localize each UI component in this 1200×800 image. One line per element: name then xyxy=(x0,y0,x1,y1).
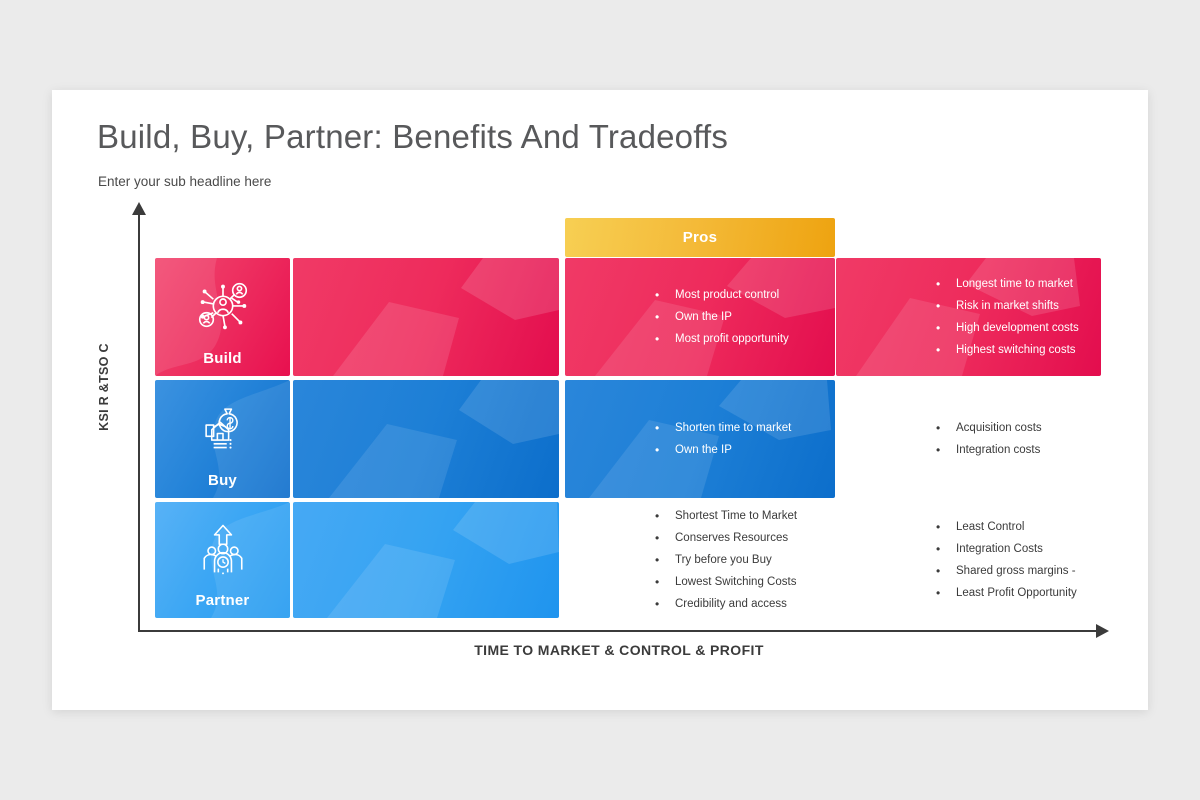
list-item: Own the IP xyxy=(651,439,835,461)
cons-list-buy: Acquisition costs Integration costs xyxy=(836,380,1136,498)
list-item: Integration costs xyxy=(932,439,1136,461)
cons-list-partner: Least Control Integration Costs Shared g… xyxy=(836,502,1136,618)
x-axis-line xyxy=(138,630,1100,632)
page-title: Build, Buy, Partner: Benefits And Tradeo… xyxy=(97,118,728,156)
list-item: Conserves Resources xyxy=(651,527,835,549)
slide-card: Build, Buy, Partner: Benefits And Tradeo… xyxy=(52,90,1148,710)
x-axis-label: TIME TO MARKET & CONTROL & PROFIT xyxy=(138,642,1100,658)
bar-buy-middle xyxy=(293,380,559,498)
list-item: Shortest Time to Market xyxy=(651,505,835,527)
list-item: Least Control xyxy=(932,516,1136,538)
list-item: Risk in market shifts xyxy=(932,295,1136,317)
bar-decoration xyxy=(293,258,559,376)
category-label-buy: Buy xyxy=(208,472,237,489)
pros-list-build: Most product control Own the IP Most pro… xyxy=(565,258,835,376)
column-header-pros[interactable]: Pros xyxy=(565,218,835,257)
row-partner: Partner Shortest Time to Market Conserve… xyxy=(52,502,1148,618)
list-item: High development costs xyxy=(932,317,1136,339)
list-item: Integration Costs xyxy=(932,538,1136,560)
row-build: Build xyxy=(52,258,1148,376)
y-axis-arrow-icon xyxy=(132,202,146,215)
pros-list-buy: Shorten time to market Own the IP xyxy=(565,380,835,498)
category-label-build: Build xyxy=(203,350,242,367)
list-item: Highest switching costs xyxy=(932,339,1136,361)
list-item: Most product control xyxy=(651,284,835,306)
cons-list-build: Longest time to market Risk in market sh… xyxy=(836,258,1136,376)
row-buy: Buy Shorten time to market Own the IP xyxy=(52,380,1148,498)
x-axis-arrow-icon xyxy=(1096,624,1109,638)
category-tile-build[interactable]: Build xyxy=(155,258,290,376)
team-growth-icon xyxy=(193,518,253,583)
list-item: Longest time to market xyxy=(932,273,1136,295)
category-label-partner: Partner xyxy=(196,592,250,609)
pros-list-partner: Shortest Time to Market Conserves Resour… xyxy=(565,502,835,618)
slide-canvas: Build, Buy, Partner: Benefits And Tradeo… xyxy=(0,0,1200,800)
column-header-cons[interactable]: Cons xyxy=(836,218,1101,257)
list-item: Lowest Switching Costs xyxy=(651,571,835,593)
page-subtitle: Enter your sub headline here xyxy=(98,174,271,189)
list-item: Acquisition costs xyxy=(932,417,1136,439)
category-tile-buy[interactable]: Buy xyxy=(155,380,290,498)
category-tile-partner[interactable]: Partner xyxy=(155,502,290,618)
list-item: Most profit opportunity xyxy=(651,328,835,350)
bar-partner-middle xyxy=(293,502,559,618)
list-item: Own the IP xyxy=(651,306,835,328)
list-item: Shared gross margins - xyxy=(932,560,1136,582)
bar-decoration xyxy=(293,380,559,498)
list-item: Least Profit Opportunity xyxy=(932,582,1136,604)
bar-decoration xyxy=(293,502,559,618)
network-people-icon xyxy=(192,274,254,341)
bar-build-middle xyxy=(293,258,559,376)
list-item: Try before you Buy xyxy=(651,549,835,571)
handshake-house-money-icon xyxy=(193,396,253,461)
list-item: Credibility and access xyxy=(651,593,835,615)
list-item: Shorten time to market xyxy=(651,417,835,439)
